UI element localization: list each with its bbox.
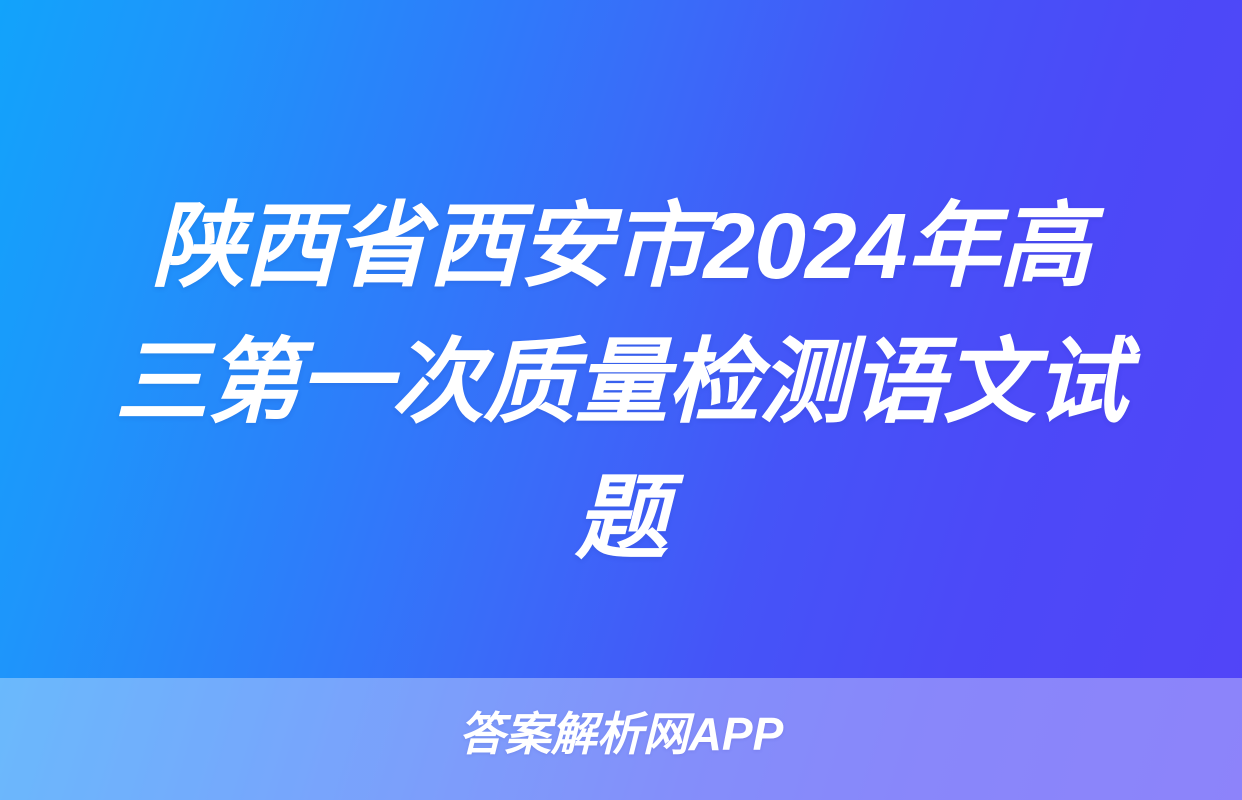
title-line-2: 三第一次质量检测语文试 [60,314,1182,450]
title-line-3: 题 [60,450,1182,586]
title-line-1: 陕西省西安市2024年高 [60,178,1182,314]
watermark: 答案解析网APP [0,708,1242,760]
share-card: 陕西省西安市2024年高 三第一次质量检测语文试 题 答案解析网APP [0,0,1242,800]
watermark-label: 答案解析网APP [459,708,784,760]
page-title: 陕西省西安市2024年高 三第一次质量检测语文试 题 [0,178,1242,586]
